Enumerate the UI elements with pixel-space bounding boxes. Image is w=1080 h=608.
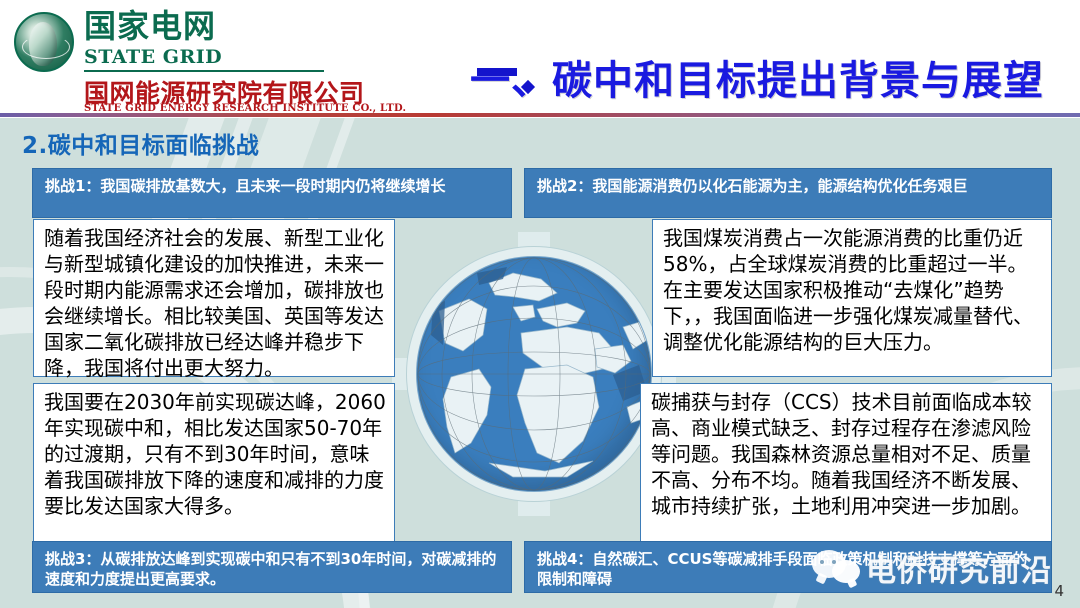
challenge-2-header: 挑战2：我国能源消费仍以化石能源为主，能源结构优化任务艰巨 bbox=[524, 168, 1052, 218]
challenge-3-body: 我国要在2030年前实现碳达峰，2060年实现碳中和，相比发达国家50-70年的… bbox=[33, 383, 395, 543]
section-title: 2.碳中和目标面临挑战 bbox=[22, 126, 259, 160]
header-gradient-rule bbox=[0, 113, 1080, 117]
challenge-4-header: 挑战4：自然碳汇、CCUS等碳减排手段面临政策机制和科技支撑等方面的限制和障碍 bbox=[524, 541, 1052, 593]
challenge-1-header: 挑战1：我国碳排放基数大，且未来一段时期内仍将继续增长 bbox=[32, 168, 512, 218]
slide-header: 国家电网 STATE GRID 国网能源研究院有限公司 STATE GRID E… bbox=[0, 0, 1080, 118]
challenge-2-body: 我国煤炭消费占一次能源消费的比重仍近58%，占全球煤炭消费的比重超过一半。在主要… bbox=[652, 219, 1052, 377]
challenge-1-body: 随着我国经济社会的发展、新型工业化与新型城镇化建设的加快推进，未来一段时期内能源… bbox=[33, 219, 395, 377]
globe-continents-icon bbox=[417, 257, 651, 491]
challenge-3-header: 挑战3：从碳排放达峰到实现碳中和只有不到30年时间，对碳减排的速度和力度提出更高… bbox=[32, 541, 512, 593]
slide: 国家电网 STATE GRID 国网能源研究院有限公司 STATE GRID E… bbox=[0, 0, 1080, 608]
page-title: 一、碳中和目标提出背景与展望 bbox=[470, 48, 1070, 102]
company-name-cn: 国家电网 bbox=[84, 10, 216, 44]
world-globe-illustration bbox=[392, 232, 676, 516]
page-number: 4 bbox=[1054, 582, 1064, 600]
company-name-en: STATE GRID bbox=[84, 46, 222, 68]
globe-sphere bbox=[416, 256, 652, 492]
challenge-4-body: 碳捕获与封存（CCS）技术目前面临成本较高、商业模式缺乏、封存过程存在渗滤风险等… bbox=[640, 383, 1052, 543]
state-grid-globe-emblem bbox=[14, 12, 74, 72]
logo-divider bbox=[84, 70, 324, 72]
